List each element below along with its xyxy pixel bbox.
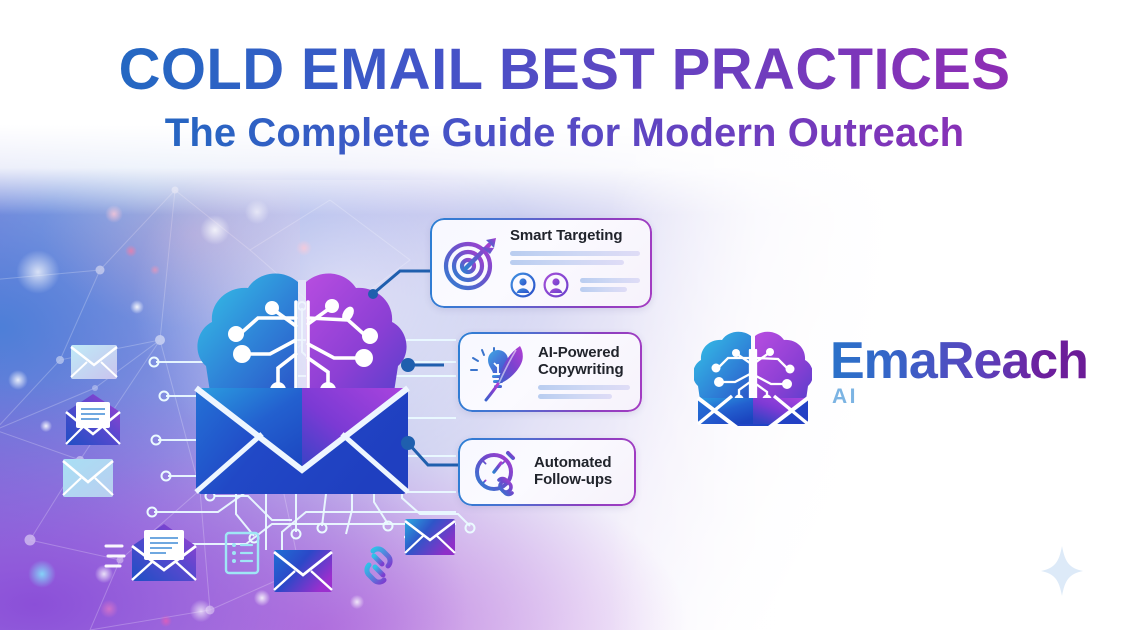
feature-card-smart-targeting[interactable]: Smart Targeting	[430, 218, 652, 308]
skeleton-lines	[510, 251, 640, 265]
page-subtitle: The Complete Guide for Modern Outreach	[0, 112, 1129, 154]
card-title: AI-Powered Copywriting	[538, 345, 630, 379]
envelope-flat-icon	[62, 458, 114, 498]
lightbulb-quill-icon	[468, 342, 530, 402]
logo-text-block: EmaReach AI	[830, 337, 1088, 409]
skeleton-line	[538, 394, 612, 399]
stopwatch-link-icon	[468, 444, 526, 500]
envelope-flat-icon	[273, 549, 333, 593]
avatar-row	[510, 272, 640, 298]
feature-card-automated-followups[interactable]: Automated Follow-ups	[458, 438, 636, 506]
card-title: Smart Targeting	[510, 228, 640, 245]
page-title: COLD EMAIL BEST PRACTICES	[0, 40, 1129, 100]
target-bullseye-icon	[440, 232, 502, 294]
card-title: Automated Follow-ups	[534, 455, 624, 489]
envelope-flat-icon	[70, 344, 118, 380]
chain-link-icon	[356, 542, 402, 590]
envelope-flat-icon	[404, 518, 456, 556]
card-body: Automated Follow-ups	[534, 455, 624, 489]
skeleton-line	[538, 385, 630, 390]
brain-envelope-logo-mark	[694, 328, 812, 426]
header-block: COLD EMAIL BEST PRACTICES The Complete G…	[0, 40, 1129, 155]
brand-logo: EmaReach AI	[694, 328, 1088, 426]
avatar-skeleton-lines	[580, 278, 640, 292]
avatar-person-purple	[543, 272, 569, 298]
skeleton-line	[510, 251, 640, 256]
skeleton-line	[580, 278, 640, 283]
envelope-open-letter-icon	[104, 516, 204, 586]
card-body: AI-Powered Copywriting	[538, 345, 630, 399]
logo-wordmark: EmaReach	[830, 337, 1088, 386]
document-list-icon	[224, 531, 260, 575]
four-point-sparkle-icon	[1039, 544, 1085, 598]
card-body: Smart Targeting	[510, 228, 640, 298]
skeleton-line	[510, 260, 624, 265]
avatar-person-blue	[510, 272, 536, 298]
feature-card-ai-copywriting[interactable]: AI-Powered Copywriting	[458, 332, 642, 412]
envelope-open-letter-icon	[62, 390, 124, 448]
skeleton-line	[580, 287, 627, 292]
poster-canvas: COLD EMAIL BEST PRACTICES The Complete G…	[0, 0, 1129, 630]
skeleton-lines	[538, 385, 630, 399]
